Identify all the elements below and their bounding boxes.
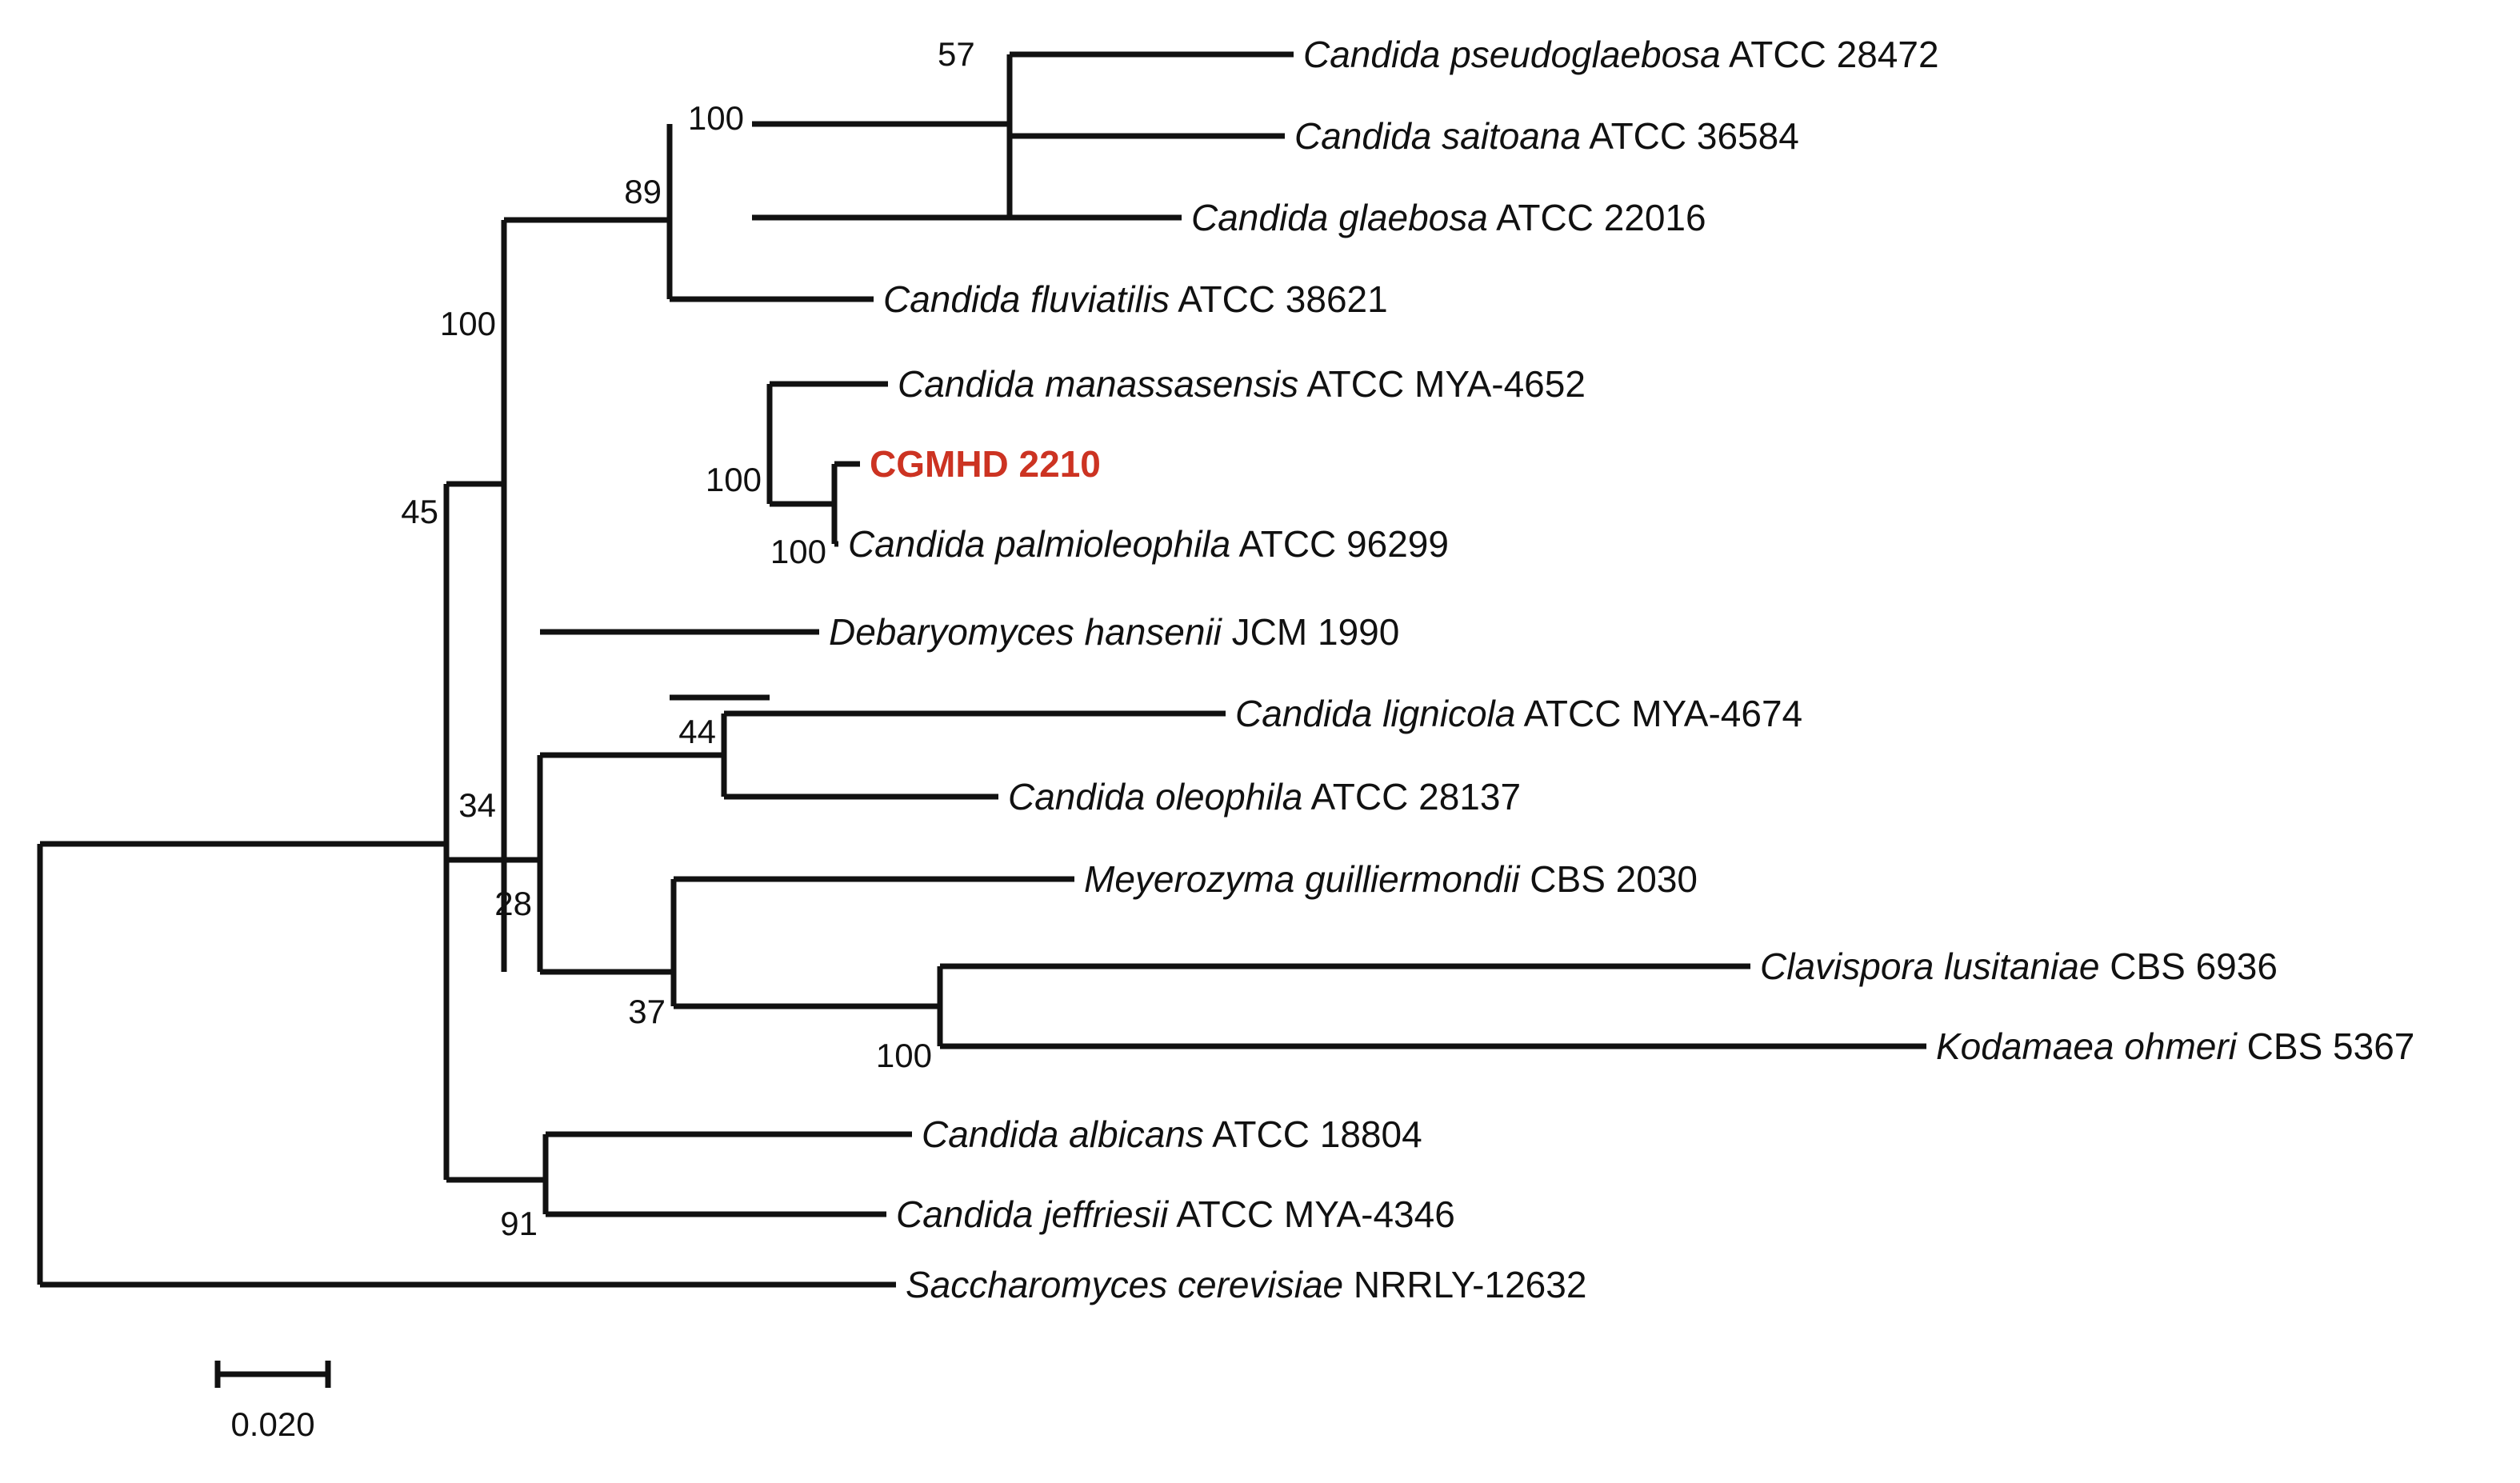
taxon-species-name: Clavispora lusitaniae bbox=[1760, 945, 2099, 987]
taxon-species-name: Candida saitoana bbox=[1294, 115, 1581, 157]
taxon-species-name: Candida glaebosa bbox=[1191, 197, 1488, 238]
taxon-label: Candida saitoana ATCC 36584 bbox=[1294, 118, 1799, 154]
taxon-species-name: Candida palmioleophila bbox=[848, 523, 1230, 565]
taxon-species-name: Candida fluviatilis bbox=[883, 278, 1170, 320]
taxon-strain-id: ATCC MYA-4652 bbox=[1298, 363, 1586, 405]
bootstrap-value-label: 89 bbox=[624, 175, 662, 209]
taxon-strain-id: JCM 1990 bbox=[1222, 611, 1399, 653]
taxon-strain-id: ATCC 22016 bbox=[1488, 197, 1706, 238]
taxon-species-name: Candida lignicola bbox=[1235, 693, 1515, 734]
taxon-label: CGMHD 2210 bbox=[870, 446, 1101, 482]
taxon-species-name: Candida oleophila bbox=[1008, 776, 1302, 817]
taxon-species-name: Saccharomyces cerevisiae bbox=[906, 1264, 1343, 1305]
bootstrap-value-label: 100 bbox=[876, 1039, 932, 1073]
taxon-label: Kodamaea ohmeri CBS 5367 bbox=[1936, 1028, 2414, 1065]
taxon-species-name: Candida pseudoglaebosa bbox=[1303, 34, 1721, 75]
taxon-label: Candida oleophila ATCC 28137 bbox=[1008, 778, 1521, 815]
bootstrap-value-label: 100 bbox=[440, 307, 496, 341]
bootstrap-value-label: 57 bbox=[938, 38, 975, 71]
scale-bar-label: 0.020 bbox=[230, 1408, 314, 1441]
bootstrap-value-label: 100 bbox=[706, 463, 762, 497]
taxon-label: Candida glaebosa ATCC 22016 bbox=[1191, 199, 1706, 236]
bootstrap-value-label: 100 bbox=[688, 102, 744, 135]
taxon-strain-id: ATCC 28137 bbox=[1302, 776, 1521, 817]
taxon-strain-id: ATCC 38621 bbox=[1170, 278, 1388, 320]
taxon-strain-id: ATCC MYA-4346 bbox=[1168, 1193, 1455, 1235]
bootstrap-value-label: 28 bbox=[494, 887, 532, 921]
taxon-label: Candida pseudoglaebosa ATCC 28472 bbox=[1303, 36, 1939, 73]
taxon-strain-id: NRRLY-12632 bbox=[1343, 1264, 1586, 1305]
bootstrap-value-label: 91 bbox=[500, 1207, 538, 1241]
taxon-strain-id: ATCC MYA-4674 bbox=[1515, 693, 1802, 734]
taxon-strain-id: ATCC 28472 bbox=[1721, 34, 1939, 75]
bootstrap-value-label: 34 bbox=[458, 789, 496, 822]
taxon-label: Candida jeffriesii ATCC MYA-4346 bbox=[896, 1196, 1455, 1233]
taxon-species-name: Kodamaea ohmeri bbox=[1936, 1025, 2237, 1067]
taxon-species-name: Debaryomyces hansenii bbox=[829, 611, 1222, 653]
bootstrap-value-label: 45 bbox=[401, 495, 438, 529]
taxon-strain-id: CBS 6936 bbox=[2099, 945, 2277, 987]
taxon-strain-id: ATCC 36584 bbox=[1581, 115, 1799, 157]
phylogenetic-tree-figure: Candida pseudoglaebosa ATCC 28472Candida… bbox=[0, 0, 2520, 1483]
scale-bar-group bbox=[218, 1361, 328, 1388]
taxon-label: Candida albicans ATCC 18804 bbox=[922, 1116, 1422, 1153]
taxon-strain-id: CBS 2030 bbox=[1520, 858, 1698, 900]
taxon-species-name: Meyerozyma guilliermondii bbox=[1084, 858, 1520, 900]
taxon-label: Clavispora lusitaniae CBS 6936 bbox=[1760, 948, 2278, 985]
taxon-strain-id: ATCC 18804 bbox=[1204, 1113, 1422, 1155]
taxon-label: Candida palmioleophila ATCC 96299 bbox=[848, 526, 1449, 562]
taxon-species-name: Candida jeffriesii bbox=[896, 1193, 1168, 1235]
bootstrap-value-label: 100 bbox=[770, 535, 826, 569]
taxon-label: Candida manassasensis ATCC MYA-4652 bbox=[898, 366, 1586, 402]
branch-lines-group bbox=[40, 54, 1926, 1285]
taxon-species-name: Candida manassasensis bbox=[898, 363, 1298, 405]
bootstrap-value-label: 37 bbox=[628, 995, 666, 1029]
bootstrap-value-label: 44 bbox=[678, 715, 716, 749]
taxon-label: Meyerozyma guilliermondii CBS 2030 bbox=[1084, 861, 1698, 897]
taxon-label: Saccharomyces cerevisiae NRRLY-12632 bbox=[906, 1266, 1586, 1303]
taxon-strain-id: CBS 5367 bbox=[2237, 1025, 2414, 1067]
taxon-strain-id: ATCC 96299 bbox=[1230, 523, 1449, 565]
taxon-label: Debaryomyces hansenii JCM 1990 bbox=[829, 614, 1399, 650]
taxon-label: Candida fluviatilis ATCC 38621 bbox=[883, 281, 1388, 318]
taxon-label: Candida lignicola ATCC MYA-4674 bbox=[1235, 695, 1802, 732]
taxon-species-name: Candida albicans bbox=[922, 1113, 1204, 1155]
